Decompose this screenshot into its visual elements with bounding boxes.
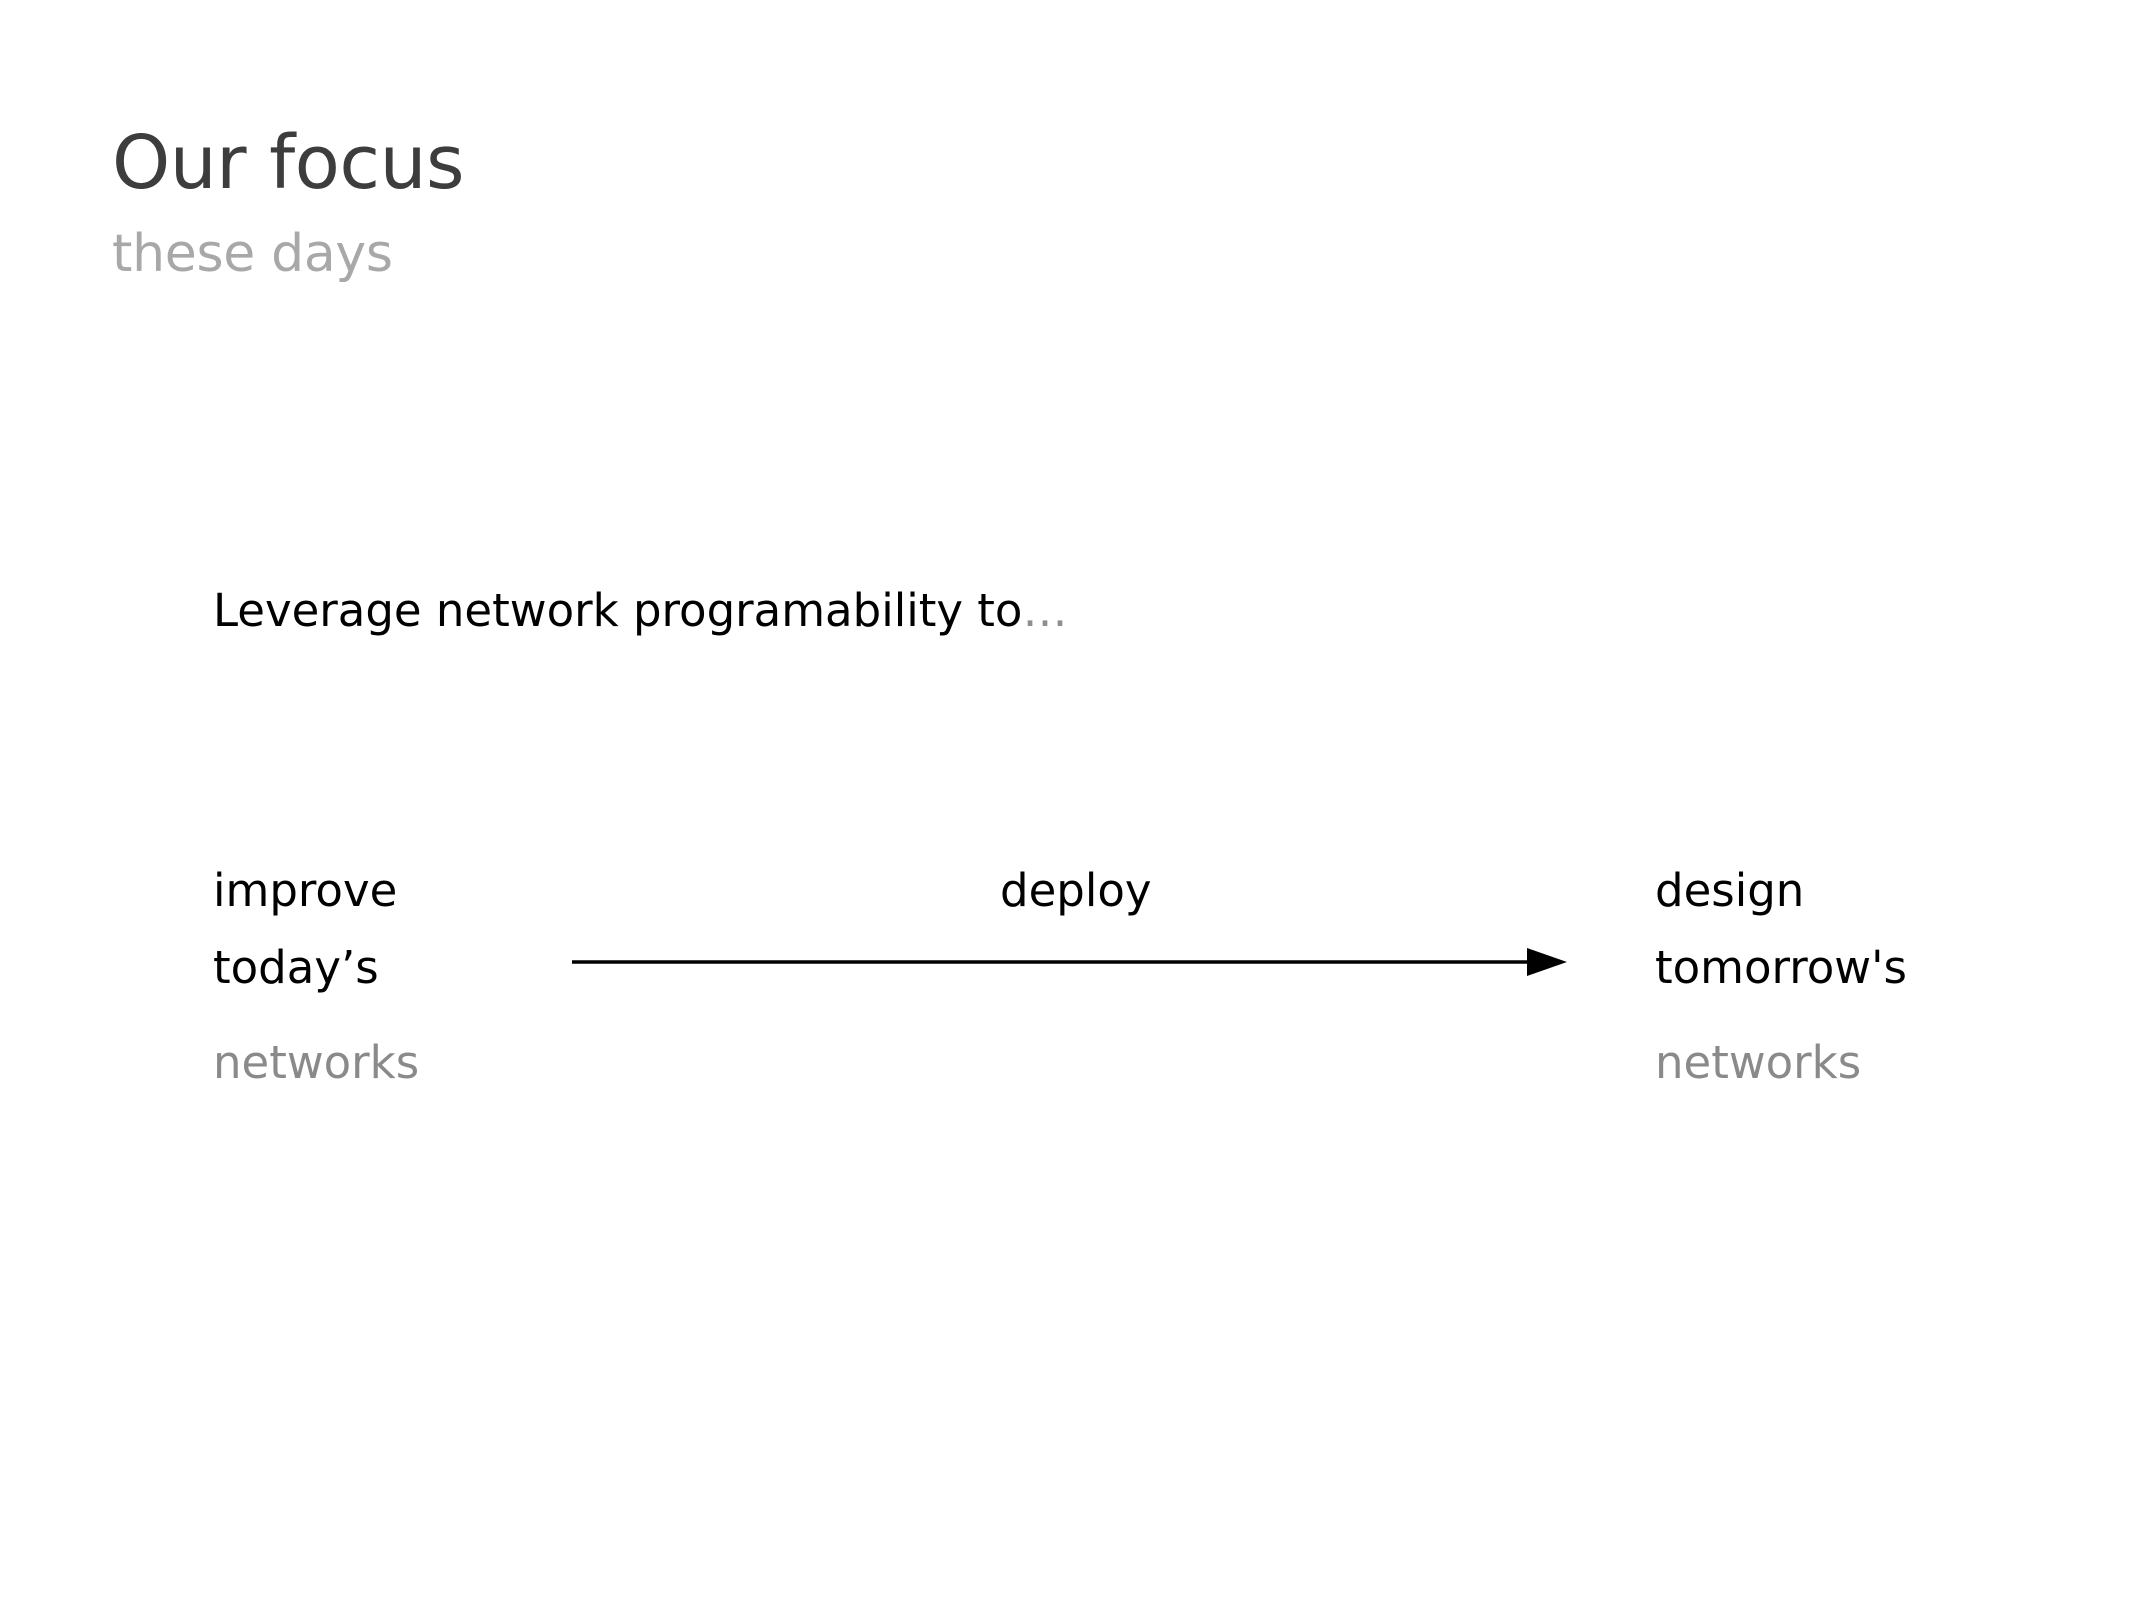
flow-diagram: improve today’s networks deploy design t… <box>0 848 2134 1128</box>
lead-statement-ellipsis: … <box>1022 584 1067 637</box>
flow-left-line-2: today’s <box>213 945 379 990</box>
lead-statement-text: Leverage network programability to <box>213 584 1022 637</box>
flow-left-line-1: improve <box>213 868 397 913</box>
slide-canvas: Our focus these days Leverage network pr… <box>0 0 2134 1600</box>
flow-arrow-right-icon <box>572 940 1572 984</box>
flow-right-line-2: tomorrow's <box>1655 945 1907 990</box>
lead-statement: Leverage network programability to… <box>213 588 1067 633</box>
title-block: Our focus these days <box>112 126 464 280</box>
flow-right-line-1: design <box>1655 868 1804 913</box>
page-subtitle: these days <box>112 228 464 280</box>
page-title: Our focus <box>112 126 464 200</box>
flow-right-line-3: networks <box>1655 1040 1861 1085</box>
flow-center-label: deploy <box>1000 868 1151 913</box>
flow-left-line-3: networks <box>213 1040 419 1085</box>
